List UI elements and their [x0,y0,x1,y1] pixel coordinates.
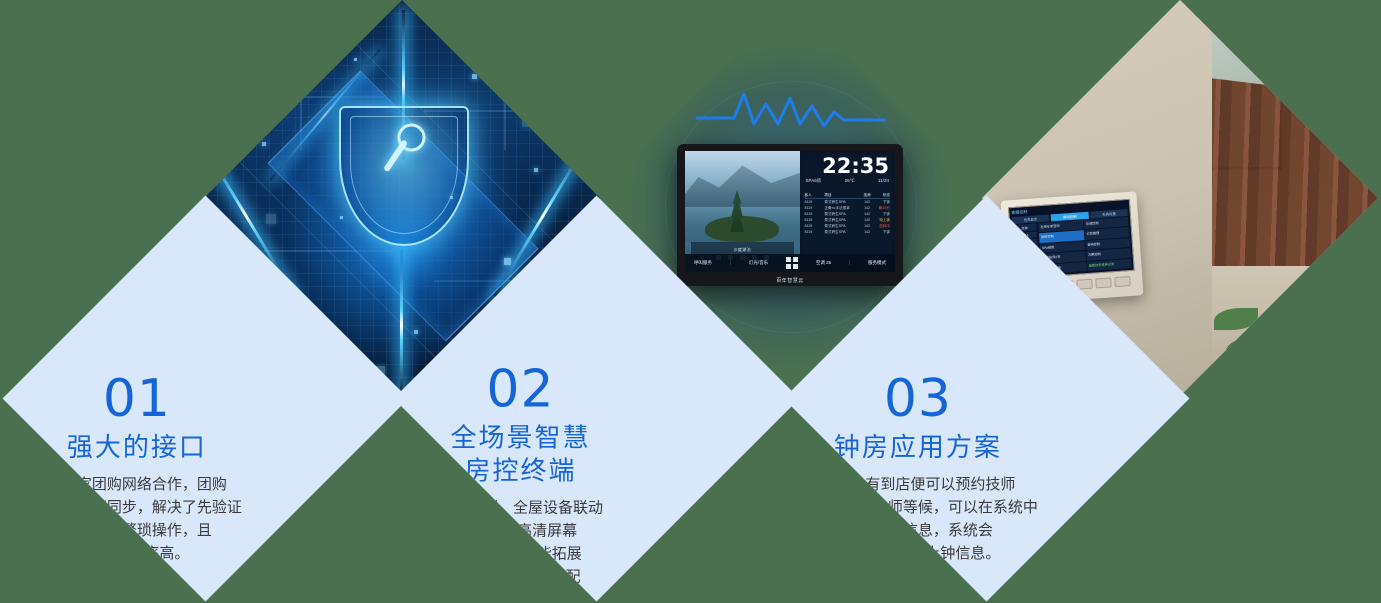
cell-tech: 142 [860,229,874,235]
temperature-label: 26℃ [845,178,855,184]
grid-btn-9[interactable]: 查看技师排钟记录 [1086,259,1131,271]
promo-banner: 沙度湖泊 22:35 [0,0,1381,603]
date-label: 11/24 [878,178,889,183]
th-guest: 客人 [805,192,825,198]
table-row: 8119 泰式养生SPA 142 下钟 [805,229,890,235]
clock-widget: 22:35 SPA6房 26℃ 11/24 [803,154,892,187]
btn-call-service[interactable]: 呼叫服务 [694,260,712,266]
feature-card-03-content: 03 钟房应用方案 客人没有到店便可以预约技师 并提前安排技师等候，可以在系统中… [784,370,1118,564]
card-title: 钟房应用方案 [784,430,1118,463]
tablet-screen: 沙度湖泊 22:35 [685,151,895,272]
card-title: 全场景智慧 房控终端 [394,421,721,487]
card-number: 02 [394,361,721,417]
clock-time: 22:35 [806,156,889,177]
card-description: 客人没有到店便可以预约技师 并提前安排技师等候，可以在系统中 直接提交信息，系统… [784,472,1118,564]
cell-status: 下钟 [874,229,890,235]
hard-key-5[interactable] [1095,277,1112,288]
card-title: 强大的接口 [3,430,337,463]
terminal-brand-label: 百年智慧云 [677,277,903,284]
plant-leaf [1226,336,1282,362]
card-description: 智能控制，全屋设备联动 7寸超大高清屏幕 2.4G无线智能拓展 众多色彩可以搭配 [394,496,721,588]
th-item: 项目 [824,192,860,198]
cell-item: 泰式养生SPA [824,229,860,235]
card-number: 03 [784,370,1118,426]
plant-leaf [1214,308,1258,330]
cell-guest: 8119 [805,229,825,235]
feature-card-01-content: 01 强大的接口 与多家团购网络合作，团购 验证和结算同步，解决了先验证 后结算… [3,370,337,564]
plant-leaf [1272,360,1332,390]
card-number: 01 [3,370,337,426]
home-grid-icon[interactable] [786,257,798,269]
mountain-shape [685,161,800,207]
btn-light-music[interactable]: 灯光/音乐 [749,260,768,266]
room-label: SPA6房 [806,178,822,184]
th-tech: 技师 [860,192,874,198]
clock-meta: SPA6房 26℃ 11/24 [806,178,889,184]
th-status: 状态 [874,192,890,198]
divider: | [849,260,850,265]
feature-card-02-content: 02 全场景智慧 房控终端 智能控制，全屋设备联动 7寸超大高清屏幕 2.4G无… [394,361,721,588]
table-header-row: 客人 项目 技师 状态 [805,192,890,199]
screen-bottom-bar[interactable]: 呼叫服务 | 灯光/音乐 空调 26 | 服务模式 [685,254,895,272]
tablet-device: 沙度湖泊 22:35 [677,144,903,286]
hard-key-6[interactable] [1114,276,1131,287]
media-track-label: 沙度湖泊 [733,247,751,253]
pulse-wave-icon [696,86,886,132]
btn-service-mode[interactable]: 服务模式 [868,260,886,266]
card-description: 与多家团购网络合作，团购 验证和结算同步，解决了先验证 后结算的繁琐操作，且 操… [3,472,337,564]
divider: | [730,260,731,265]
btn-air-conditioner[interactable]: 空调 26 [816,260,831,266]
